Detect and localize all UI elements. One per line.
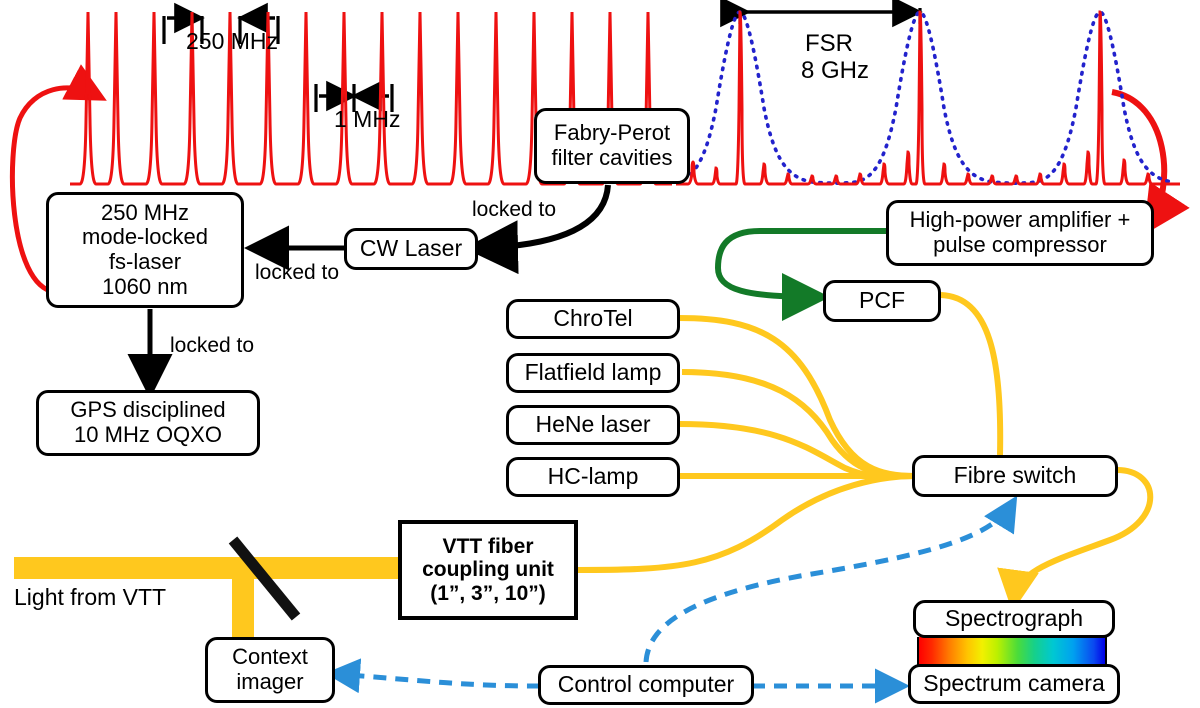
label-fsr-value: 8 GHz [801, 57, 869, 85]
label-locked-to-gps: locked to [170, 334, 254, 358]
vtt-line-2: coupling unit [422, 558, 554, 582]
gps-line-2: 10 MHz OQXO [70, 423, 225, 448]
node-fibre-switch[interactable]: Fibre switch [912, 455, 1118, 497]
label-locked-to-cw: locked to [255, 261, 339, 285]
amplifier-line-2: pulse compressor [910, 233, 1131, 258]
node-hc-lamp[interactable]: HC-lamp [506, 457, 680, 497]
spectrum-gradient-band [917, 637, 1107, 665]
vtt-line-1: VTT fiber [422, 535, 554, 559]
label-1mhz: 1 MHz [334, 106, 400, 133]
label-fsr: FSR [805, 30, 853, 58]
node-context-imager[interactable]: Context imager [205, 637, 335, 703]
fs-laser-line-1: 250 MHz [82, 201, 208, 226]
node-high-power-amplifier[interactable]: High-power amplifier + pulse compressor [886, 200, 1154, 266]
label-light-from-vtt: Light from VTT [14, 584, 166, 611]
context-imager-line-2: imager [232, 670, 308, 695]
fabry-perot-line-2: filter cavities [551, 146, 672, 171]
amplifier-line-1: High-power amplifier + [910, 208, 1131, 233]
node-flatfield-lamp[interactable]: Flatfield lamp [506, 353, 680, 393]
fs-laser-line-4: 1060 nm [82, 275, 208, 300]
node-fs-laser[interactable]: 250 MHz mode-locked fs-laser 1060 nm [46, 192, 244, 308]
node-cw-laser[interactable]: CW Laser [344, 228, 478, 270]
vtt-line-3: (1”, 3”, 10”) [422, 582, 554, 606]
node-chrotel[interactable]: ChroTel [506, 299, 680, 339]
node-hene-laser[interactable]: HeNe laser [506, 405, 680, 445]
node-spectrum-camera[interactable]: Spectrum camera [908, 664, 1120, 704]
node-vtt-fiber-coupling-unit[interactable]: VTT fiber coupling unit (1”, 3”, 10”) [398, 520, 578, 620]
fs-laser-line-3: fs-laser [82, 250, 208, 275]
fabry-perot-line-1: Fabry-Perot [551, 121, 672, 146]
label-locked-to-fabry: locked to [472, 198, 556, 222]
node-gps-oqxo[interactable]: GPS disciplined 10 MHz OQXO [36, 390, 260, 456]
comb-right-filtered [676, 12, 1180, 184]
label-250mhz: 250 MHz [186, 28, 278, 55]
diagram-canvas: 250 MHz 1 MHz FSR 8 GHz locked to locked… [0, 0, 1200, 708]
gps-line-1: GPS disciplined [70, 398, 225, 423]
context-imager-line-1: Context [232, 645, 308, 670]
fs-laser-line-2: mode-locked [82, 225, 208, 250]
node-fabry-perot-filter-cavities[interactable]: Fabry-Perot filter cavities [534, 108, 690, 184]
node-control-computer[interactable]: Control computer [538, 665, 754, 705]
node-spectrograph[interactable]: Spectrograph [913, 600, 1115, 638]
node-pcf[interactable]: PCF [823, 280, 941, 322]
